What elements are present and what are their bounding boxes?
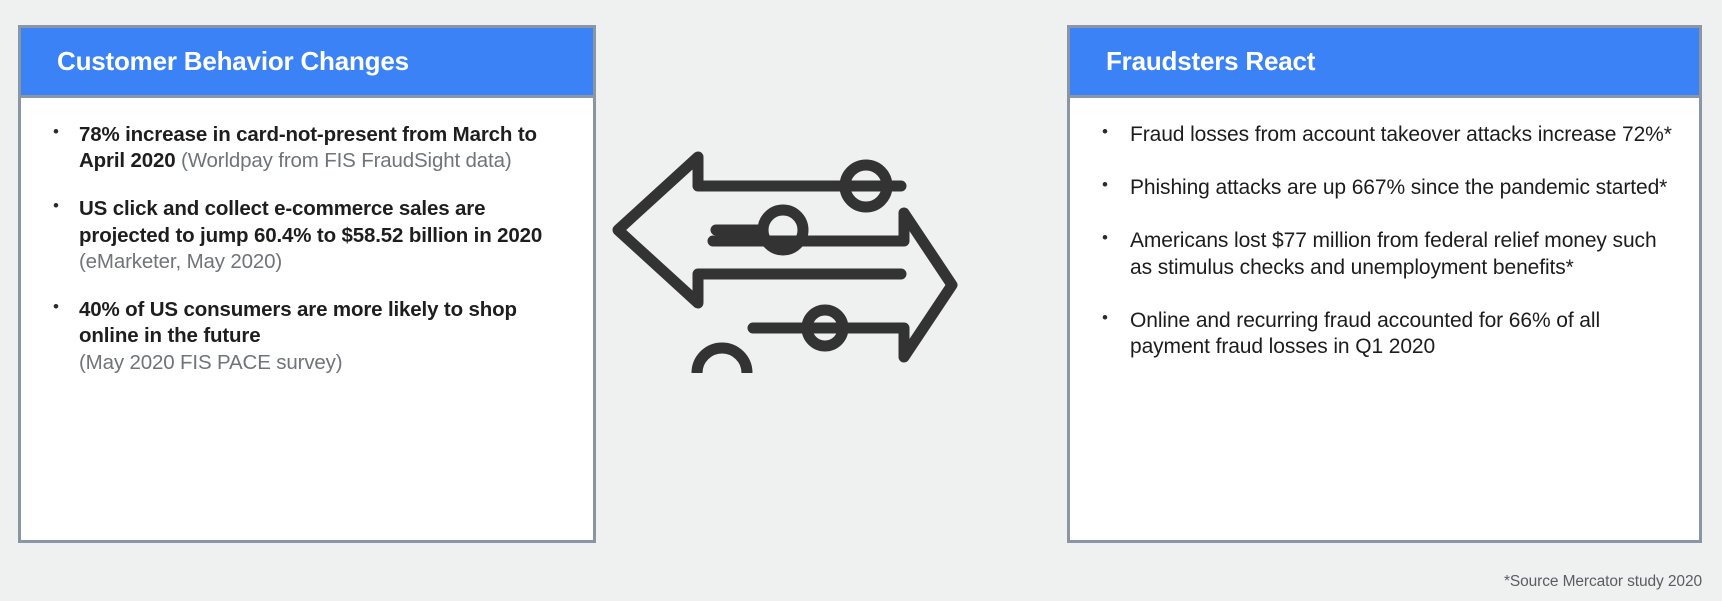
marker-circle-large-bottom xyxy=(697,348,747,373)
list-item: Americans lost $77 million from federal … xyxy=(1096,228,1673,282)
bullet-citation: (May 2020 FIS PACE survey) xyxy=(79,350,567,376)
bullet-citation: (Worldpay from FIS FraudSight data) xyxy=(176,149,512,172)
bullet-main-text: Online and recurring fraud accounted for… xyxy=(1130,309,1600,359)
bullet-main-text: US click and collect e-commerce sales ar… xyxy=(79,197,542,246)
card-title-customer-behavior-changes: Customer Behavior Changes xyxy=(21,28,593,98)
left-card-bullet-list: 78% increase in card-not-present from Ma… xyxy=(47,122,567,376)
bullet-main-text: Americans lost $77 million from federal … xyxy=(1130,229,1657,279)
left-card-body: 78% increase in card-not-present from Ma… xyxy=(21,98,593,540)
source-footnote: *Source Mercator study 2020 xyxy=(1504,573,1702,591)
right-card-bullet-list: Fraud losses from account takeover attac… xyxy=(1096,122,1673,361)
list-item: US click and collect e-commerce sales ar… xyxy=(47,196,567,275)
bullet-main-text: Phishing attacks are up 667% since the p… xyxy=(1130,176,1667,199)
bullet-main-text: 40% of US consumers are more likely to s… xyxy=(79,298,517,347)
transfer-arrows-svg xyxy=(606,138,960,373)
list-item: Fraud losses from account takeover attac… xyxy=(1096,122,1673,149)
card-title-fraudsters-react: Fraudsters React xyxy=(1070,28,1699,98)
fraudsters-react-card: Fraudsters React Fraud losses from accou… xyxy=(1067,25,1702,543)
right-card-body: Fraud losses from account takeover attac… xyxy=(1070,98,1699,540)
bidirectional-transfer-arrows-icon xyxy=(606,138,960,373)
customer-behavior-changes-card: Customer Behavior Changes 78% increase i… xyxy=(18,25,596,543)
bullet-main-text: Fraud losses from account takeover attac… xyxy=(1130,123,1672,146)
list-item: Online and recurring fraud accounted for… xyxy=(1096,308,1673,362)
list-item: 78% increase in card-not-present from Ma… xyxy=(47,122,567,174)
bullet-citation: (eMarketer, May 2020) xyxy=(79,249,567,275)
list-item: Phishing attacks are up 667% since the p… xyxy=(1096,175,1673,202)
list-item: 40% of US consumers are more likely to s… xyxy=(47,297,567,376)
